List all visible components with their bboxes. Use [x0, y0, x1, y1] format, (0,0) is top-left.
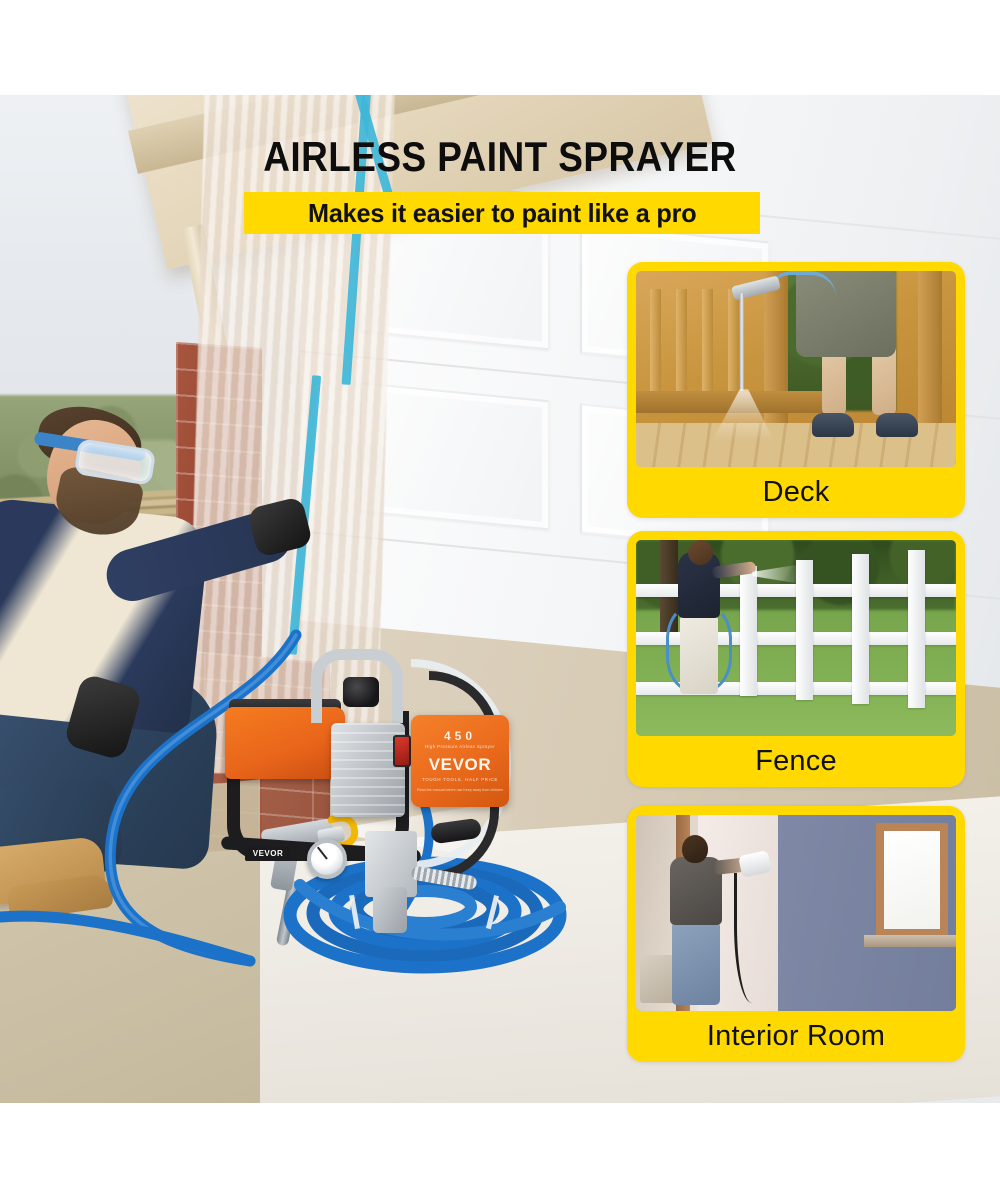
plate-line-2: TOUGH TOOLS, HALF PRICE [422, 777, 498, 782]
brand-name: VEVOR [429, 755, 492, 775]
card-caption-interior: Interior Room [636, 1011, 956, 1062]
subtitle-banner: Makes it easier to paint like a pro [244, 192, 760, 234]
pressure-knob[interactable] [343, 677, 379, 707]
product-poster: VEVOR 450 High Pressure Airless Sprayer … [0, 0, 1000, 1200]
pressure-gauge [307, 839, 347, 879]
card-caption-deck: Deck [636, 467, 956, 518]
feature-card-fence[interactable]: Fence [627, 531, 965, 787]
subtitle-text: Makes it easier to paint like a pro [308, 198, 696, 229]
page-title: AIRLESS PAINT SPRAYER [60, 133, 940, 181]
card-image-interior [636, 815, 956, 1011]
feature-card-deck[interactable]: Deck [627, 262, 965, 518]
gauge-needle [317, 847, 328, 860]
airless-sprayer-machine: VEVOR 450 High Pressure Airless Sprayer … [215, 615, 515, 935]
brand-plate: 450 High Pressure Airless Sprayer VEVOR … [411, 715, 509, 807]
motor-brand-badge: VEVOR [245, 847, 291, 861]
model-number: 450 [444, 729, 476, 743]
card-caption-fence: Fence [636, 736, 956, 787]
feature-card-interior[interactable]: Interior Room [627, 806, 965, 1062]
plate-fine-print: Read the manual before use Keep away fro… [417, 788, 503, 793]
card-image-fence [636, 540, 956, 736]
filter-housing [373, 887, 407, 933]
card-image-deck [636, 271, 956, 467]
power-switch[interactable] [393, 735, 411, 767]
plate-line-1: High Pressure Airless Sprayer [425, 744, 495, 749]
